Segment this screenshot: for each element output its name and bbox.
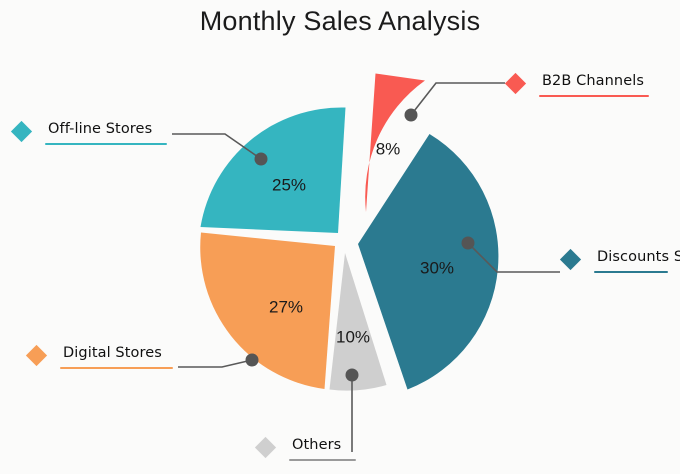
legend-label-discounts-sales[interactable]: Discounts Sales bbox=[595, 249, 680, 270]
legend-underline-b2b-channels bbox=[539, 95, 649, 97]
leader-dot-others bbox=[346, 369, 359, 382]
slice-value-discounts-sales: 30% bbox=[420, 258, 454, 277]
leader-dot-offline-stores bbox=[255, 153, 268, 166]
legend-underline-others bbox=[289, 459, 356, 461]
leader-line-b2b-channels bbox=[411, 83, 505, 115]
legend-underline-digital-stores bbox=[60, 367, 173, 369]
slice-value-others: 10% bbox=[336, 327, 370, 346]
chart-canvas: Monthly Sales Analysis bbox=[0, 0, 680, 474]
legend-text-others: Others bbox=[290, 437, 343, 455]
pie-slice-offline-stores[interactable] bbox=[201, 107, 346, 233]
legend-label-others[interactable]: Others bbox=[290, 437, 343, 458]
legend-label-b2b-channels[interactable]: B2B Channels bbox=[540, 73, 646, 94]
leader-line-digital-stores bbox=[178, 360, 252, 367]
legend-text-digital-stores: Digital Stores bbox=[61, 345, 164, 363]
legend-text-offline-stores: Off-line Stores bbox=[46, 121, 154, 139]
legend-underline-offline-stores bbox=[45, 143, 167, 145]
leader-dot-digital-stores bbox=[246, 354, 259, 367]
pie-chart-svg: 8% 30% 10% 27% 25% bbox=[0, 0, 680, 474]
slice-value-b2b-channels: 8% bbox=[376, 139, 401, 158]
legend-underline-discounts-sales bbox=[594, 271, 668, 273]
slice-value-digital-stores: 27% bbox=[269, 297, 303, 316]
legend-label-offline-stores[interactable]: Off-line Stores bbox=[46, 121, 154, 142]
legend-text-b2b-channels: B2B Channels bbox=[540, 73, 646, 91]
legend-label-digital-stores[interactable]: Digital Stores bbox=[61, 345, 164, 366]
legend-text-discounts-sales: Discounts Sales bbox=[595, 249, 680, 267]
pie-slice-digital-stores[interactable] bbox=[200, 233, 335, 390]
leader-dot-b2b-channels bbox=[405, 109, 418, 122]
slice-value-offline-stores: 25% bbox=[272, 175, 306, 194]
leader-dot-discounts-sales bbox=[462, 237, 475, 250]
